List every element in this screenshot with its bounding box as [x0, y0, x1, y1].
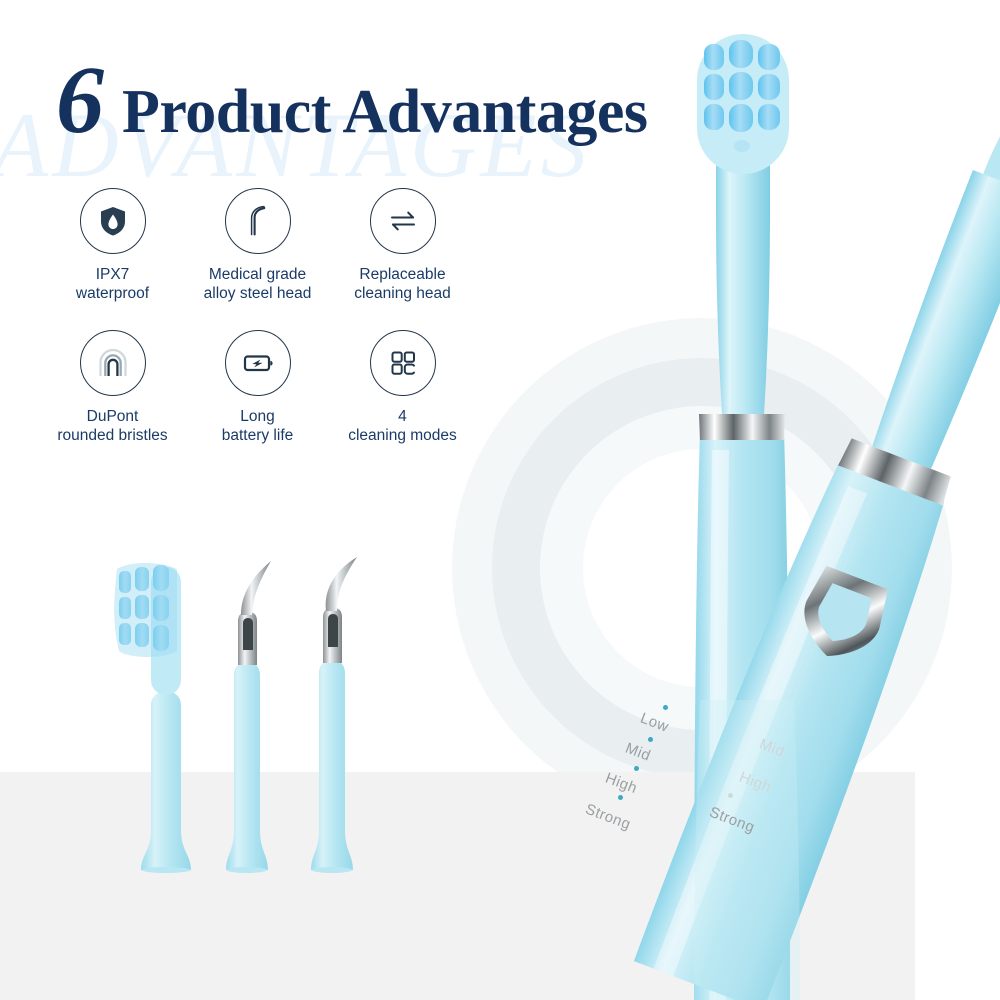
dental-scaler-render — [633, 0, 1000, 1000]
mode-dot-strong — [618, 795, 623, 800]
product-photo-group — [0, 0, 1000, 1000]
mode-dot-high — [634, 766, 639, 771]
brush-bristles — [704, 40, 780, 132]
mode-dot-low — [663, 705, 668, 710]
mode-dot-strong-ghost — [728, 793, 733, 798]
infographic-canvas: ADVANTAGES 6 Product Advantages IPX7 wat… — [0, 0, 1000, 1000]
mode-dot-mid — [648, 737, 653, 742]
